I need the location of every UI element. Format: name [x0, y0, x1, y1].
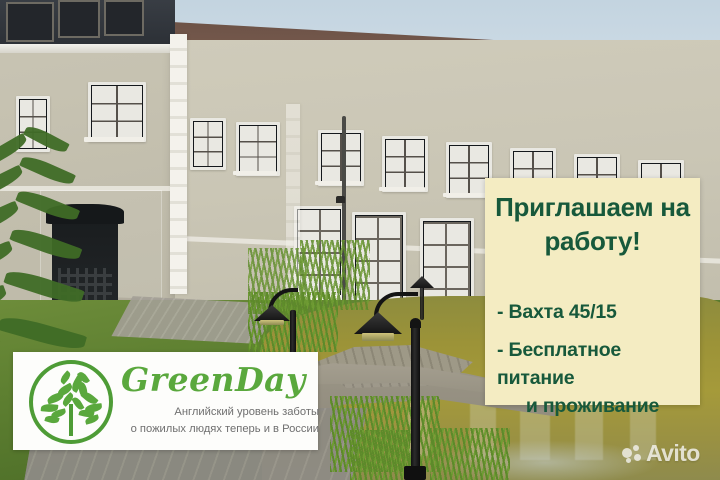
pine-tree	[0, 118, 98, 378]
avito-watermark: Avito	[622, 440, 700, 466]
dormer-window	[6, 2, 54, 42]
tagline-line-1: Английский уровень заботы	[119, 404, 319, 421]
brand-word-day: Day	[235, 360, 306, 399]
recruitment-card: Приглашаем на работу! - Вахта 45/15 - Бе…	[485, 178, 700, 405]
window-upper	[236, 122, 280, 176]
listing-photo: Приглашаем на работу! - Вахта 45/15 - Бе…	[0, 0, 720, 480]
window-upper	[318, 130, 364, 186]
card-title: Приглашаем на работу!	[485, 190, 700, 258]
window-sill	[443, 193, 489, 197]
brand-wordmark: GreenDay	[121, 358, 317, 402]
card-bullet: и проживание	[485, 392, 700, 420]
tagline-line-2: о пожилых людях теперь и в России	[119, 421, 319, 438]
card-title-line-1: Приглашаем на	[485, 190, 700, 224]
window-sill	[315, 181, 361, 185]
tree-in-oval-icon	[29, 360, 113, 444]
card-bullet: - Бесплатное питание	[485, 336, 700, 392]
dormer-window	[58, 0, 100, 38]
dormer-window	[104, 0, 144, 36]
quoin-corner	[170, 34, 187, 294]
brand-word-green: Green	[121, 360, 235, 399]
brand-tagline: Английский уровень заботы о пожилых людя…	[119, 404, 319, 437]
avito-label: Avito	[646, 442, 700, 465]
brand-logo-box: GreenDay Английский уровень заботы о пож…	[13, 352, 318, 450]
avito-dots-icon	[622, 445, 641, 462]
shrub	[300, 240, 370, 310]
window-upper	[190, 118, 226, 170]
card-title-line-2: работу!	[485, 224, 700, 258]
card-bullet: - Вахта 45/15	[485, 298, 700, 326]
wall-lamp	[336, 196, 345, 203]
window-sill	[233, 171, 277, 175]
grass-clump	[430, 428, 510, 480]
window-upper	[382, 136, 428, 192]
grass-clump	[350, 430, 410, 480]
window-sill	[379, 187, 425, 191]
left-wing-eave	[0, 44, 180, 53]
card-bullet-list: - Вахта 45/15 - Бесплатное питание и про…	[485, 298, 700, 420]
